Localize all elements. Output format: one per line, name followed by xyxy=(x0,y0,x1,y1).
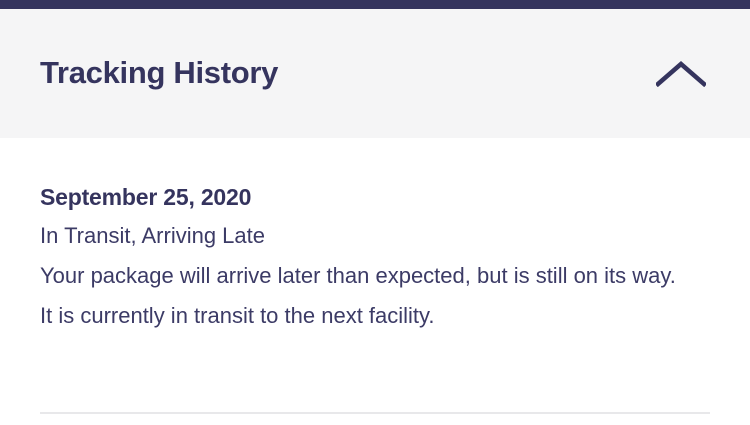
tracking-event-description: Your package will arrive later than expe… xyxy=(40,256,685,336)
top-accent-bar xyxy=(0,0,750,9)
tracking-event-date: September 25, 2020 xyxy=(40,184,251,212)
page-title: Tracking History xyxy=(40,56,278,90)
tracking-history-body: September 25, 2020 In Transit, Arriving … xyxy=(0,138,750,425)
collapse-panel-button[interactable] xyxy=(652,53,710,95)
tracking-history-header[interactable]: Tracking History xyxy=(0,9,750,138)
chevron-up-icon xyxy=(656,61,706,87)
tracking-history-screen: Tracking History September 25, 2020 In T… xyxy=(0,0,750,425)
tracking-event-status: In Transit, Arriving Late xyxy=(40,222,265,250)
tracking-entry-divider xyxy=(40,412,710,414)
